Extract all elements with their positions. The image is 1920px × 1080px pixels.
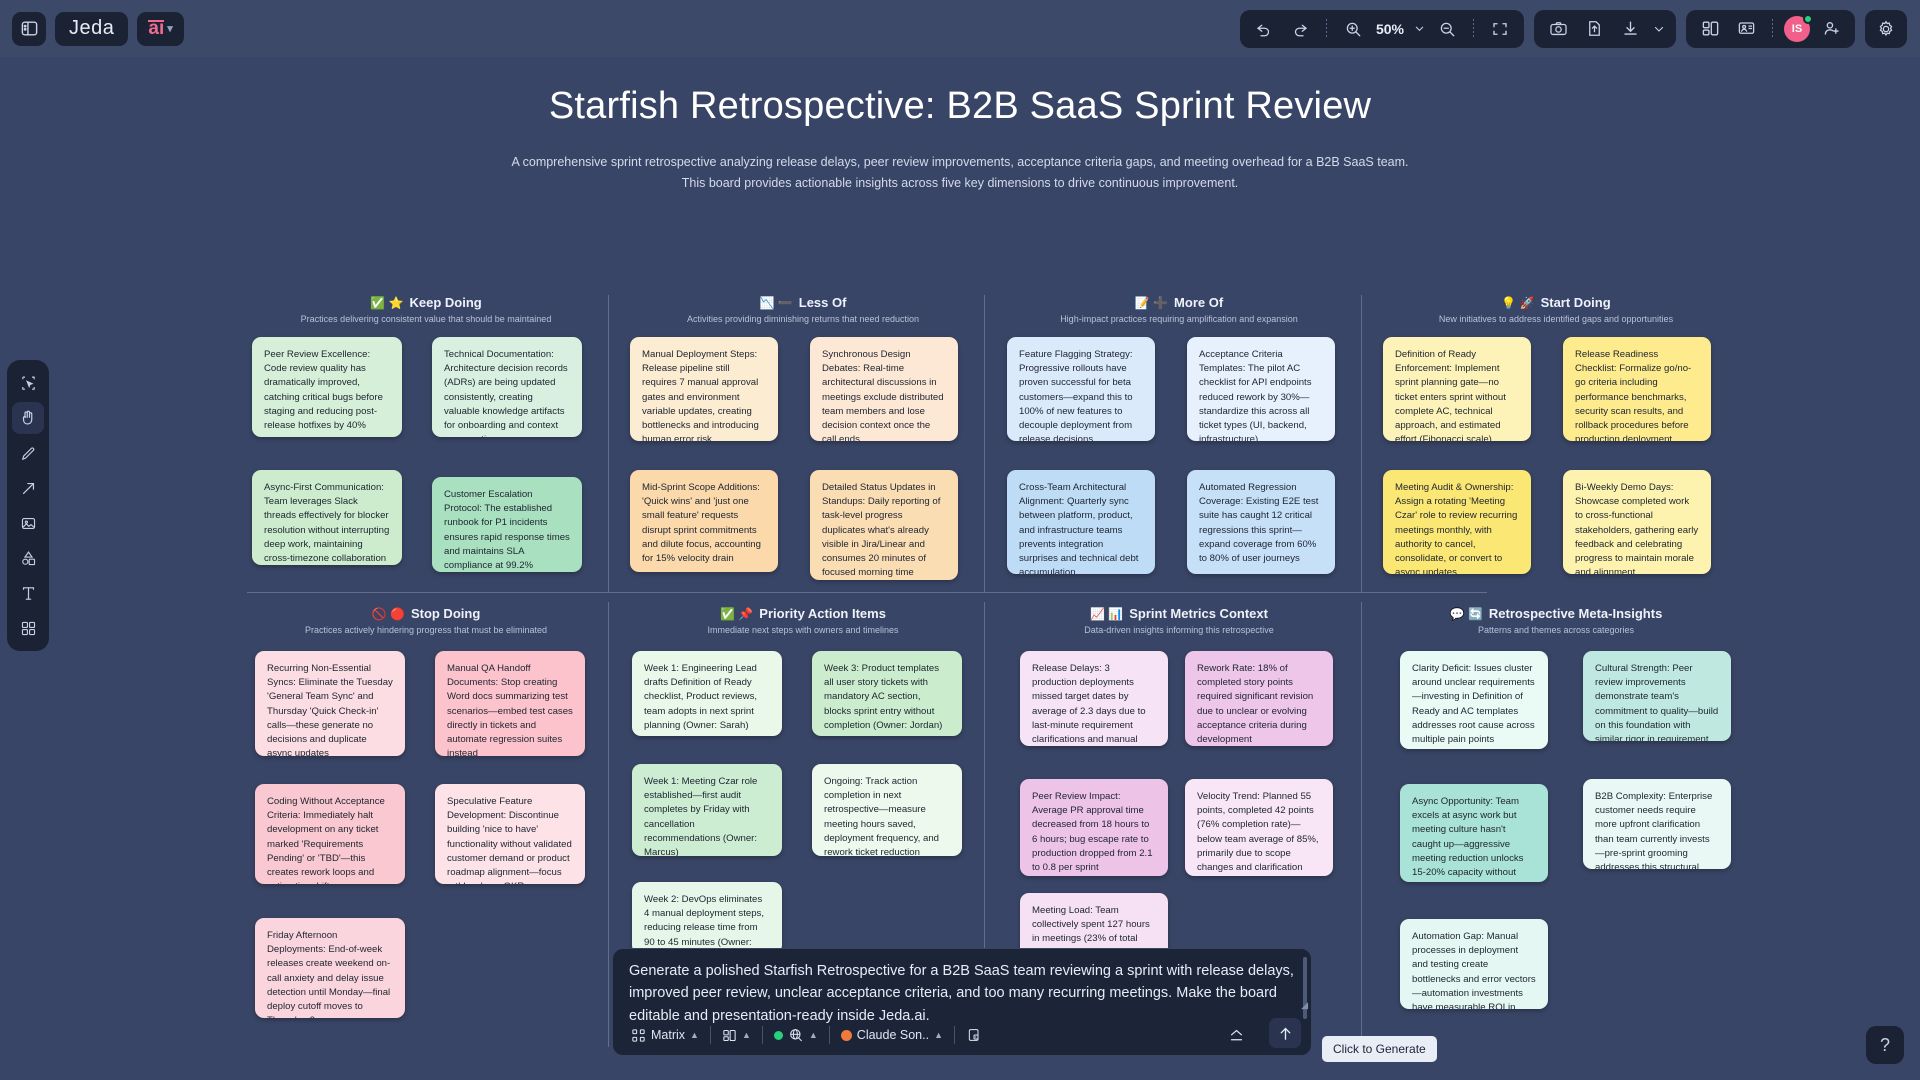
- redo-icon[interactable]: [1285, 14, 1315, 44]
- prompt-toolbar: Matrix ▲ ▲ ▲ Claude Son.. ▲ x: [613, 1015, 1311, 1055]
- sticky-note[interactable]: Async-First Communication: Team leverage…: [252, 470, 402, 565]
- layout-icon: [722, 1028, 737, 1043]
- sticky-note-text: Recurring Non-Essential Syncs: Eliminate…: [267, 663, 393, 756]
- sticky-note[interactable]: Technical Documentation: Architecture de…: [432, 337, 582, 437]
- section-emoji: ✅ 📌: [720, 607, 753, 621]
- section-emoji: 💬 🔄: [1450, 607, 1483, 621]
- avatar-initials: IS: [1792, 23, 1802, 35]
- layout-panels-icon[interactable]: [1695, 14, 1725, 44]
- sticky-note[interactable]: Clarity Deficit: Issues cluster around u…: [1400, 651, 1548, 749]
- section-title: 📉 ➖ Less Of: [624, 295, 982, 310]
- model-dot: [841, 1030, 852, 1041]
- sticky-note-text: Manual QA Handoff Documents: Stop creati…: [447, 663, 573, 756]
- column-divider: [608, 295, 609, 593]
- sticky-note-text: Release Readiness Checklist: Formalize g…: [1575, 349, 1691, 441]
- sticky-note-text: Friday Afternoon Deployments: End-of-wee…: [267, 930, 390, 1018]
- sticky-note-text: Async Opportunity: Team excels at async …: [1412, 796, 1523, 882]
- section-title-text: More Of: [1174, 295, 1223, 310]
- chevron-down-icon[interactable]: [1412, 14, 1426, 44]
- add-user-icon[interactable]: [1816, 14, 1846, 44]
- page-title: Starfish Retrospective: B2B SaaS Sprint …: [0, 85, 1920, 128]
- sticky-note-text: Feature Flagging Strategy: Progressive r…: [1019, 349, 1133, 441]
- model-label: Claude Son..: [857, 1028, 929, 1042]
- avatar[interactable]: IS: [1784, 16, 1810, 42]
- sticky-note-text: Peer Review Excellence: Code review qual…: [264, 349, 383, 431]
- board-subtitle: A comprehensive sprint retrospective ana…: [470, 152, 1450, 193]
- shapes-icon[interactable]: [12, 542, 44, 574]
- tool-rail: [7, 360, 49, 651]
- download-icon[interactable]: [1615, 14, 1645, 44]
- section-description: Activities providing diminishing returns…: [624, 314, 982, 324]
- section-title-text: Start Doing: [1541, 295, 1611, 310]
- column-divider: [1361, 602, 1362, 1047]
- row-divider: [247, 592, 1487, 593]
- section-description: Patterns and themes across categories: [1377, 625, 1735, 635]
- section-description: Practices delivering consistent value th…: [247, 314, 605, 324]
- sticky-note-text: Release Delays: 3 production deployments…: [1032, 663, 1146, 746]
- section-emoji: 📈 📊: [1090, 607, 1123, 621]
- section-header-sprint-metrics-context: 📈 📊 Sprint Metrics Context Data-driven i…: [1000, 606, 1358, 635]
- section-title: 💡 🚀 Start Doing: [1377, 295, 1735, 310]
- sticky-note-text: Mid-Sprint Scope Additions: 'Quick wins'…: [642, 482, 761, 564]
- section-description: Data-driven insights informing this retr…: [1000, 625, 1358, 635]
- sticky-note[interactable]: B2B Complexity: Enterprise customer need…: [1583, 779, 1731, 869]
- chevron-up-icon: ▲: [742, 1030, 751, 1040]
- sticky-note-text: Ongoing: Track action completion in next…: [824, 776, 939, 856]
- sticky-note-text: Definition of Ready Enforcement: Impleme…: [1395, 349, 1506, 441]
- sticky-note-text: Week 1: Engineering Lead drafts Definiti…: [644, 663, 757, 731]
- web-search-icon: [788, 1027, 804, 1043]
- sticky-note-text: Technical Documentation: Architecture de…: [444, 349, 568, 437]
- online-status-dot: [1803, 14, 1813, 24]
- app-logo[interactable]: Jeda: [55, 12, 128, 46]
- collapse-button[interactable]: [1220, 1022, 1253, 1048]
- section-title: 📈 📊 Sprint Metrics Context: [1000, 606, 1358, 621]
- section-header-keep-doing: ✅ ⭐ Keep Doing Practices delivering cons…: [247, 295, 605, 324]
- sticky-note-text: Velocity Trend: Planned 55 points, compl…: [1197, 791, 1319, 876]
- matrix-icon: [631, 1028, 646, 1043]
- zoom-in-icon[interactable]: [1338, 14, 1368, 44]
- mode-label: Matrix: [651, 1028, 685, 1042]
- dock-divider: [829, 1026, 830, 1044]
- sticky-note-text: Week 3: Product templates all user story…: [824, 663, 942, 731]
- ai-mode-selector[interactable]: ai ▾: [137, 12, 183, 46]
- section-title-text: Less Of: [799, 295, 847, 310]
- sticky-note[interactable]: Speculative Feature Development: Discont…: [435, 784, 585, 884]
- attach-file-button[interactable]: x: [958, 1022, 990, 1048]
- sticky-note-text: Acceptance Criteria Templates: The pilot…: [1199, 349, 1312, 441]
- fit-screen-icon[interactable]: [1485, 14, 1515, 44]
- sticky-note[interactable]: Bi-Weekly Demo Days: Showcase completed …: [1563, 470, 1711, 574]
- section-description: New initiatives to address identified ga…: [1377, 314, 1735, 324]
- sticky-note[interactable]: Recurring Non-Essential Syncs: Eliminate…: [255, 651, 405, 756]
- sticky-note[interactable]: Manual QA Handoff Documents: Stop creati…: [435, 651, 585, 756]
- sticky-note[interactable]: Release Delays: 3 production deployments…: [1020, 651, 1168, 746]
- sticky-note-text: Automated Regression Coverage: Existing …: [1199, 482, 1318, 564]
- app-logo-text: Jeda: [69, 17, 114, 40]
- sticky-note-text: Bi-Weekly Demo Days: Showcase completed …: [1575, 482, 1698, 574]
- toolbar-divider: [1326, 19, 1327, 39]
- pen-icon[interactable]: [12, 437, 44, 469]
- undo-icon[interactable]: [1249, 14, 1279, 44]
- section-title: 🚫 🔴 Stop Doing: [247, 606, 605, 621]
- camera-icon[interactable]: [1543, 14, 1573, 44]
- gear-icon[interactable]: [1871, 14, 1901, 44]
- toolbar-divider: [1473, 19, 1474, 39]
- board-subtitle-line-1: A comprehensive sprint retrospective ana…: [470, 152, 1450, 173]
- generate-tooltip: Click to Generate: [1322, 1036, 1437, 1062]
- sticky-note[interactable]: Coding Without Acceptance Criteria: Imme…: [255, 784, 405, 884]
- collab-group: IS: [1686, 10, 1855, 48]
- sticky-note-text: Cultural Strength: Peer review improveme…: [1595, 663, 1718, 741]
- section-title: 📝 ➕ More Of: [1000, 295, 1358, 310]
- collapse-icon: [1228, 1027, 1245, 1044]
- sticky-note-text: Coding Without Acceptance Criteria: Imme…: [267, 796, 385, 884]
- section-emoji: 📝 ➕: [1135, 296, 1168, 310]
- section-description: High-impact practices requiring amplific…: [1000, 314, 1358, 324]
- history-zoom-group: 50%: [1240, 10, 1524, 48]
- cursor-select-icon[interactable]: [12, 367, 44, 399]
- prompt-dock[interactable]: Generate a polished Starfish Retrospecti…: [612, 948, 1312, 1056]
- sticky-note-text: Clarity Deficit: Issues cluster around u…: [1412, 663, 1535, 745]
- sticky-note[interactable]: Week 3: Product templates all user story…: [812, 651, 962, 736]
- sticky-note[interactable]: Automated Regression Coverage: Existing …: [1187, 470, 1335, 574]
- help-button[interactable]: ?: [1866, 1026, 1904, 1064]
- sticky-note[interactable]: Mid-Sprint Scope Additions: 'Quick wins'…: [630, 470, 778, 572]
- sticky-note[interactable]: Velocity Trend: Planned 55 points, compl…: [1185, 779, 1333, 876]
- resize-handle-icon[interactable]: ◢: [1301, 1000, 1308, 1011]
- section-title-text: Stop Doing: [411, 606, 480, 621]
- section-emoji: 🚫 🔴: [372, 607, 405, 621]
- chevron-down-icon[interactable]: [1651, 14, 1667, 44]
- sticky-note[interactable]: Async Opportunity: Team excels at async …: [1400, 784, 1548, 882]
- dock-divider: [710, 1026, 711, 1044]
- dock-divider: [762, 1026, 763, 1044]
- ai-mode-label: ai: [148, 18, 164, 40]
- send-arrow-icon: [1277, 1025, 1294, 1042]
- column-divider: [984, 295, 985, 593]
- sticky-note[interactable]: Meeting Audit & Ownership: Assign a rota…: [1383, 470, 1531, 574]
- chevron-up-icon: ▲: [934, 1030, 943, 1040]
- column-divider: [608, 602, 609, 1047]
- sticky-note[interactable]: Customer Escalation Protocol: The establ…: [432, 477, 582, 572]
- file-upload-icon[interactable]: [1579, 14, 1609, 44]
- presentation-icon[interactable]: [1731, 14, 1761, 44]
- sticky-note[interactable]: Cross-Team Architectural Alignment: Quar…: [1007, 470, 1155, 574]
- sticky-note[interactable]: Week 2: DevOps eliminates 4 manual deplo…: [632, 882, 782, 954]
- sticky-note-text: Week 1: Meeting Czar role established—fi…: [644, 776, 757, 856]
- mode-selector[interactable]: Matrix ▲: [623, 1022, 707, 1048]
- section-header-start-doing: 💡 🚀 Start Doing New initiatives to addre…: [1377, 295, 1735, 324]
- toolbar-right-group: 50%: [1240, 10, 1920, 48]
- section-header-priority-action-items: ✅ 📌 Priority Action Items Immediate next…: [624, 606, 982, 635]
- section-header-retrospective-meta-insights: 💬 🔄 Retrospective Meta-Insights Patterns…: [1377, 606, 1735, 635]
- sticky-note[interactable]: Friday Afternoon Deployments: End-of-wee…: [255, 918, 405, 1018]
- section-emoji: 💡 🚀: [1501, 296, 1534, 310]
- sticky-note[interactable]: Manual Deployment Steps: Release pipelin…: [630, 337, 778, 441]
- section-title: 💬 🔄 Retrospective Meta-Insights: [1377, 606, 1735, 621]
- sticky-note[interactable]: Rework Rate: 18% of completed story poin…: [1185, 651, 1333, 746]
- web-search-selector[interactable]: ▲: [766, 1022, 826, 1048]
- chevron-down-icon: ▾: [167, 22, 173, 35]
- settings-group: [1865, 10, 1907, 48]
- sticky-note-text: Peer Review Impact: Average PR approval …: [1032, 791, 1153, 873]
- panel-toggle-icon[interactable]: [12, 12, 46, 46]
- sticky-note[interactable]: Ongoing: Track action completion in next…: [812, 764, 962, 856]
- sticky-note[interactable]: Peer Review Excellence: Code review qual…: [252, 337, 402, 437]
- section-title-text: Retrospective Meta-Insights: [1489, 606, 1662, 621]
- sticky-note-text: Customer Escalation Protocol: The establ…: [444, 489, 570, 571]
- sticky-note-text: Synchronous Design Debates: Real-time ar…: [822, 349, 944, 441]
- sticky-note[interactable]: Definition of Ready Enforcement: Impleme…: [1383, 337, 1531, 441]
- sticky-note-text: Speculative Feature Development: Discont…: [447, 796, 572, 884]
- sticky-note-text: Cross-Team Architectural Alignment: Quar…: [1019, 482, 1138, 574]
- grid-icon[interactable]: [12, 612, 44, 644]
- sticky-note[interactable]: Automation Gap: Manual processes in depl…: [1400, 919, 1548, 1009]
- sticky-note-text: B2B Complexity: Enterprise customer need…: [1595, 791, 1712, 869]
- section-description: Practices actively hindering progress th…: [247, 625, 605, 635]
- section-emoji: 📉 ➖: [760, 296, 793, 310]
- section-header-more-of: 📝 ➕ More Of High-impact practices requir…: [1000, 295, 1358, 324]
- chevron-up-icon: ▲: [690, 1030, 699, 1040]
- section-header-less-of: 📉 ➖ Less Of Activities providing diminis…: [624, 295, 982, 324]
- top-toolbar: Jeda ai ▾ 50%: [0, 0, 1920, 57]
- sticky-note[interactable]: Peer Review Impact: Average PR approval …: [1020, 779, 1168, 876]
- text-icon[interactable]: [12, 577, 44, 609]
- section-title: ✅ ⭐ Keep Doing: [247, 295, 605, 310]
- board-subtitle-line-2: This board provides actionable insights …: [470, 173, 1450, 194]
- section-title-text: Sprint Metrics Context: [1129, 606, 1268, 621]
- sticky-note-text: Automation Gap: Manual processes in depl…: [1412, 931, 1536, 1009]
- model-selector[interactable]: Claude Son.. ▲: [833, 1022, 951, 1048]
- attach-file-icon: x: [966, 1027, 982, 1043]
- sticky-note[interactable]: Feature Flagging Strategy: Progressive r…: [1007, 337, 1155, 441]
- sticky-note-text: Meeting Audit & Ownership: Assign a rota…: [1395, 482, 1517, 574]
- zoom-level-value[interactable]: 50%: [1374, 21, 1406, 37]
- sticky-note[interactable]: Synchronous Design Debates: Real-time ar…: [810, 337, 958, 441]
- section-title: ✅ 📌 Priority Action Items: [624, 606, 982, 621]
- image-icon[interactable]: [12, 507, 44, 539]
- arrow-icon[interactable]: [12, 472, 44, 504]
- sticky-note-text: Async-First Communication: Team leverage…: [264, 482, 389, 564]
- sticky-note[interactable]: Week 1: Engineering Lead drafts Definiti…: [632, 651, 782, 736]
- sticky-note[interactable]: Detailed Status Updates in Standups: Dai…: [810, 470, 958, 580]
- column-divider: [1361, 295, 1362, 593]
- board-canvas[interactable]: Starfish Retrospective: B2B SaaS Sprint …: [0, 57, 1920, 1080]
- zoom-out-icon[interactable]: [1432, 14, 1462, 44]
- sticky-note-text: Detailed Status Updates in Standups: Dai…: [822, 482, 940, 578]
- section-title-text: Priority Action Items: [759, 606, 886, 621]
- chevron-up-icon: ▲: [809, 1030, 818, 1040]
- sticky-note[interactable]: Release Readiness Checklist: Formalize g…: [1563, 337, 1711, 441]
- sticky-note[interactable]: Acceptance Criteria Templates: The pilot…: [1187, 337, 1335, 441]
- section-header-stop-doing: 🚫 🔴 Stop Doing Practices actively hinder…: [247, 606, 605, 635]
- sticky-note[interactable]: Week 1: Meeting Czar role established—fi…: [632, 764, 782, 856]
- section-title-text: Keep Doing: [409, 295, 481, 310]
- send-button[interactable]: [1269, 1018, 1301, 1048]
- layout-selector[interactable]: ▲: [714, 1022, 759, 1048]
- toolbar-divider: [1772, 19, 1773, 39]
- section-description: Immediate next steps with owners and tim…: [624, 625, 982, 635]
- section-emoji: ✅ ⭐: [370, 296, 403, 310]
- toolbar-left-group: Jeda ai ▾: [0, 12, 184, 46]
- status-dot: [774, 1031, 783, 1040]
- sticky-note-text: Rework Rate: 18% of completed story poin…: [1197, 663, 1313, 745]
- dock-divider: [954, 1026, 955, 1044]
- capture-export-group: [1534, 10, 1676, 48]
- sticky-note-text: Manual Deployment Steps: Release pipelin…: [642, 349, 759, 441]
- sticky-note-text: Week 2: DevOps eliminates 4 manual deplo…: [644, 894, 764, 954]
- sticky-note[interactable]: Cultural Strength: Peer review improveme…: [1583, 651, 1731, 741]
- hand-icon[interactable]: [12, 402, 44, 434]
- help-label: ?: [1880, 1035, 1890, 1056]
